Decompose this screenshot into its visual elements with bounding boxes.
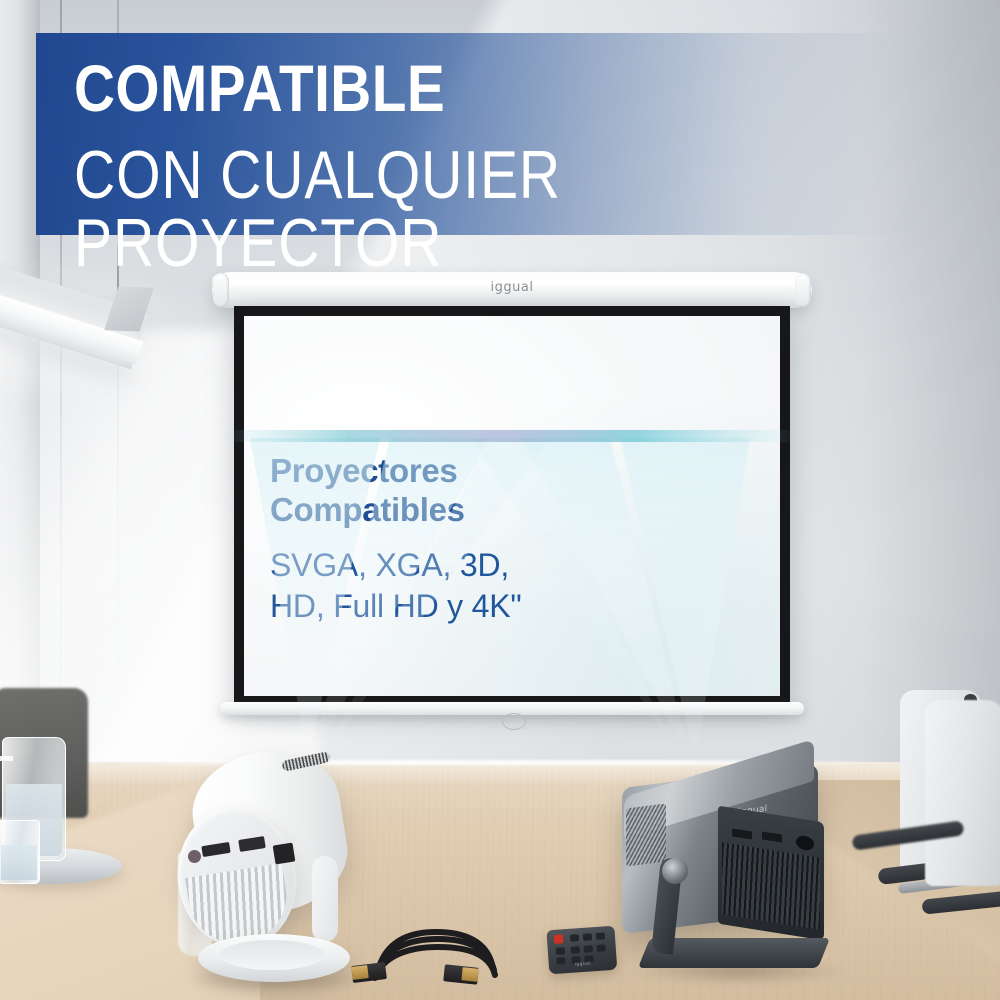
water-glass [0,820,40,884]
hdmi-gold-contact-right [461,967,478,982]
remote-button [571,946,580,954]
screen-content: Proyectores Compatibles SVGA, XGA, 3D, H… [270,452,700,627]
remote-button [597,944,606,952]
power-button [554,934,564,944]
screen-spec-line-2: HD, Full HD y 4K" [270,586,700,627]
projection-screen: iggual Proyectores Compatibles SVGA, XGA… [212,272,812,732]
hdmi-cable-coil [352,922,532,992]
remote-button [583,933,592,941]
projector-hinge [662,858,688,884]
screen-title: Proyectores Compatibles [270,452,700,529]
headline-primary: COMPATIBLE [74,55,445,121]
projector-indicator [188,850,201,863]
screen-title-line-2: Compatibles [270,491,700,530]
remote-button [584,945,593,953]
glass-water [1,845,37,880]
remote-control: iggual [546,926,617,979]
power-port-icon [273,843,296,865]
dark-box-projector: iggual [610,770,850,1000]
remote-button [596,932,605,940]
screen-spec-line-1: SVGA, XGA, 3D, [270,545,700,586]
screen-title-line-1: Proyectores [270,452,700,491]
projector-stand-arm [312,856,338,942]
chair-backrest [925,700,1000,886]
projector-base-inner [220,940,324,970]
hdmi-cable [352,922,532,992]
remote-button [556,947,565,955]
hdmi-gold-contact-left [351,965,368,980]
iggual-logo: iggual [212,280,812,295]
screen-pull-ring [502,713,526,730]
projector-speaker-grille [722,842,820,930]
headline-banner: COMPATIBLE CON CUALQUIER PROYECTOR [36,33,966,235]
projector-side-vent [626,804,666,867]
headline-secondary: CON CUALQUIER PROYECTOR [74,141,823,277]
remote-body: iggual [546,926,617,975]
remote-button [570,934,579,942]
product-marketing-image: iggual Proyectores Compatibles SVGA, XGA… [0,0,1000,1000]
screen-specs: SVGA, XGA, 3D, HD, Full HD y 4K" [270,545,700,627]
